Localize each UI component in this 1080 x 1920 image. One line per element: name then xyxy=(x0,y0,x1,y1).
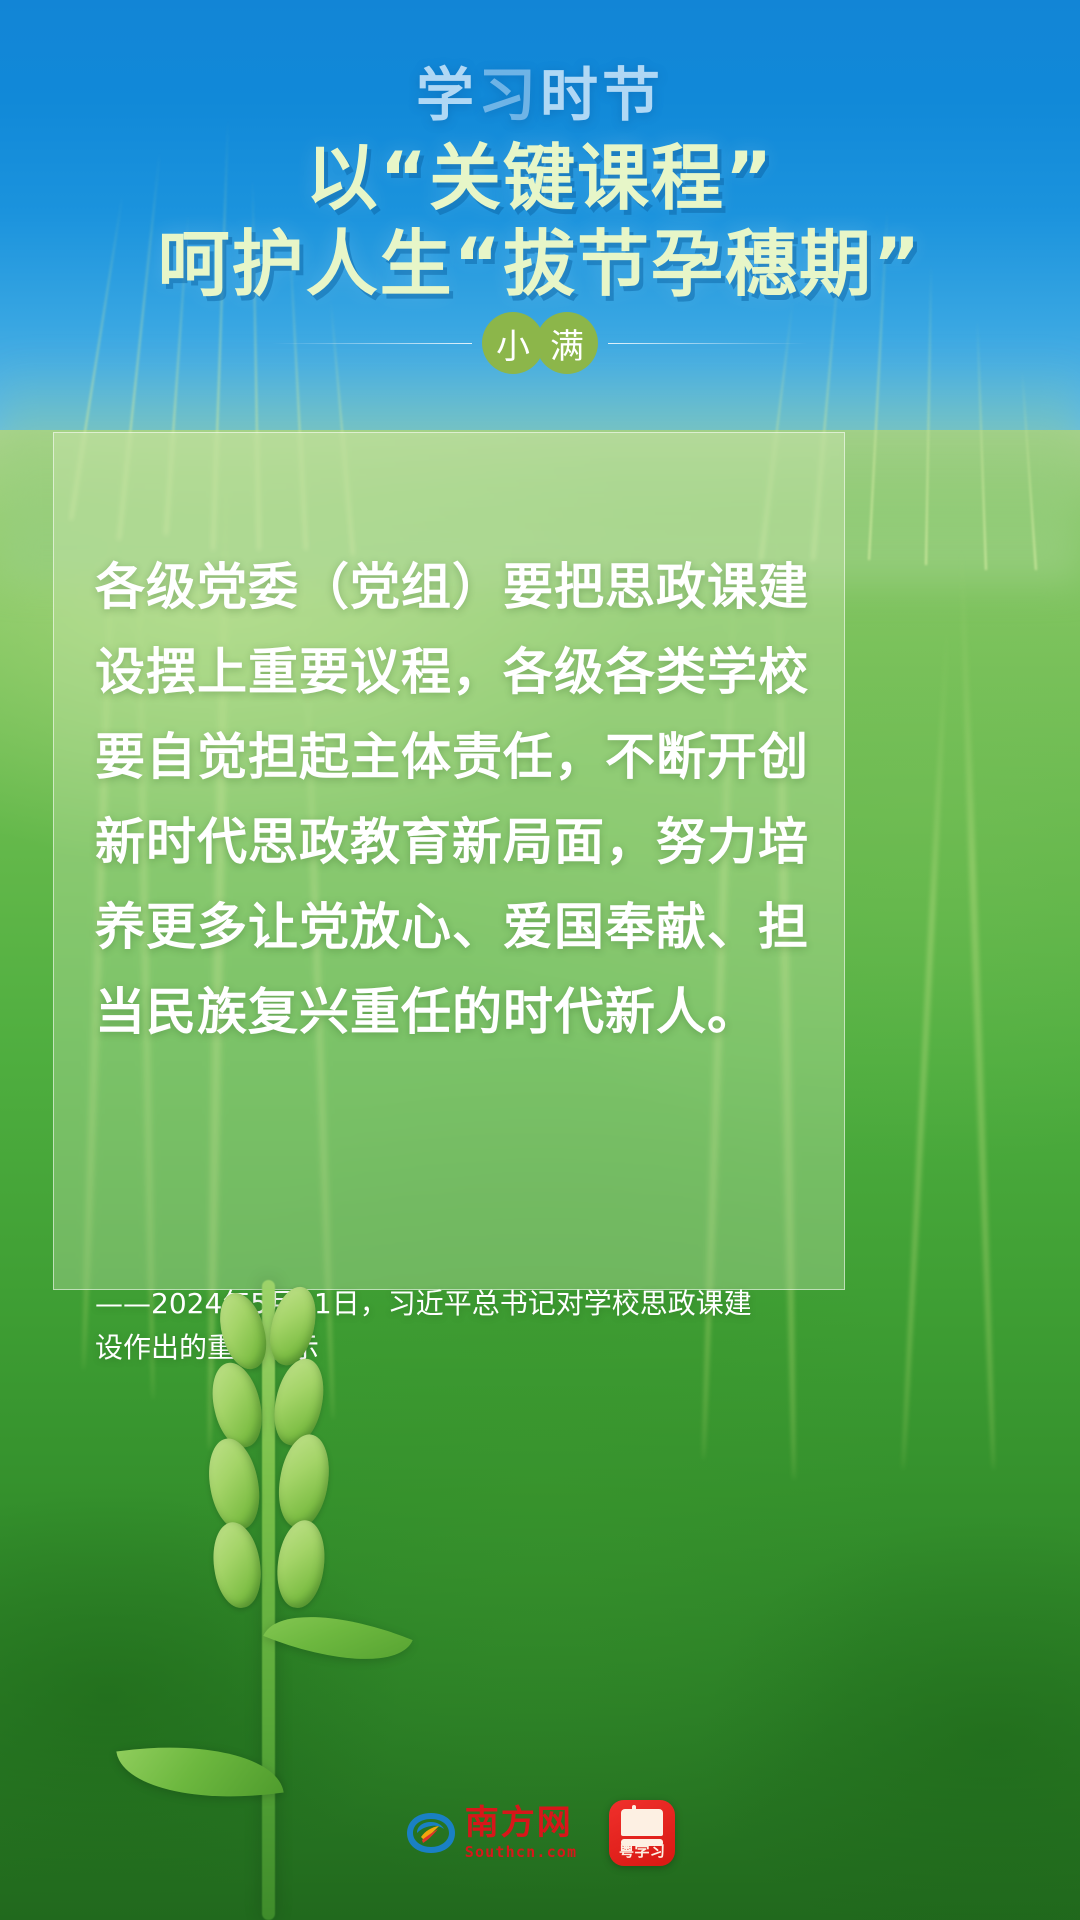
southcn-swirl-icon xyxy=(405,1807,457,1859)
title-line-1: 以“关键课程” xyxy=(0,135,1080,221)
southcn-logo[interactable]: 南方网 Southcn.com xyxy=(405,1806,578,1860)
badge-rule-right xyxy=(608,343,808,344)
quote-line: 要自觉担起主体责任，不断开创 xyxy=(95,715,815,800)
badge-circles: 小 满 xyxy=(482,312,598,374)
book-icon xyxy=(621,1809,663,1836)
badge-char-man: 满 xyxy=(536,312,598,374)
southcn-name-en: Southcn.com xyxy=(465,1845,578,1860)
page-title: 以“关键课程” 呵护人生“拔节孕穗期” xyxy=(0,135,1080,307)
footer-logos: 南方网 Southcn.com 粤学习 xyxy=(0,1800,1080,1866)
brand-char-xi: 习 xyxy=(478,61,540,129)
quote-line: 新时代思政教育新局面，努力培 xyxy=(95,800,815,885)
yuexuexi-label: 粤学习 xyxy=(609,1840,675,1861)
badge-rule-left xyxy=(272,343,472,344)
southcn-text: 南方网 Southcn.com xyxy=(465,1806,578,1860)
attribution-line: ——2024年5月11日，习近平总书记对学校思政课建 xyxy=(95,1282,795,1326)
quote-attribution: ——2024年5月11日，习近平总书记对学校思政课建 设作出的重要指示 xyxy=(95,1282,795,1370)
brand-logo: 学习时节 xyxy=(0,48,1080,132)
attribution-line: 设作出的重要指示 xyxy=(95,1326,795,1370)
southcn-name-cn: 南方网 xyxy=(465,1806,578,1840)
solar-term-badge: 小 满 xyxy=(0,312,1080,374)
poster-root: 学习时节 以“关键课程” 呵护人生“拔节孕穗期” 小 满 各级党委（党组）要把思… xyxy=(0,0,1080,1920)
brand-char-shijie: 时节 xyxy=(540,61,664,129)
quote-line: 养更多让党放心、爱国奉献、担 xyxy=(95,885,815,970)
brand-char-xue: 学 xyxy=(416,61,478,129)
title-line-2: 呵护人生“拔节孕穗期” xyxy=(0,221,1080,307)
quote-text: 各级党委（党组）要把思政课建 设摆上重要议程，各级各类学校 要自觉担起主体责任，… xyxy=(95,545,815,1055)
quote-line: 设摆上重要议程，各级各类学校 xyxy=(95,630,815,715)
badge-char-xiao: 小 xyxy=(482,312,544,374)
quote-line: 当民族复兴重任的时代新人。 xyxy=(95,970,815,1055)
quote-line: 各级党委（党组）要把思政课建 xyxy=(95,545,815,630)
yuexuexi-app-icon[interactable]: 粤学习 xyxy=(609,1800,675,1866)
